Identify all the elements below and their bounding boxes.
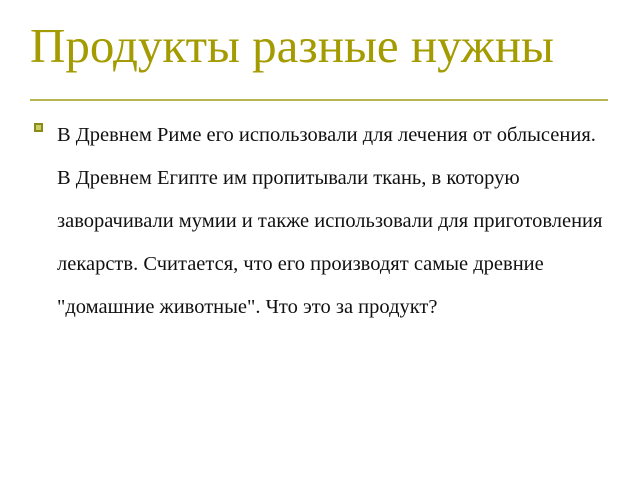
body-paragraph: В Древнем Риме его использовали для лече… <box>57 114 613 329</box>
title-divider <box>30 99 608 101</box>
square-bullet-icon <box>34 123 43 132</box>
sidebar-band-bottom <box>0 320 17 480</box>
bullet-list-item: В Древнем Риме его использовали для лече… <box>32 114 612 329</box>
slide-title: Продукты разные нужны <box>30 20 610 71</box>
sidebar-band-middle <box>0 160 17 320</box>
sidebar-decoration <box>0 0 17 480</box>
slide-body: В Древнем Риме его использовали для лече… <box>32 114 612 329</box>
presentation-slide: Продукты разные нужны В Древнем Риме его… <box>0 0 640 480</box>
sidebar-band-top <box>0 0 17 160</box>
